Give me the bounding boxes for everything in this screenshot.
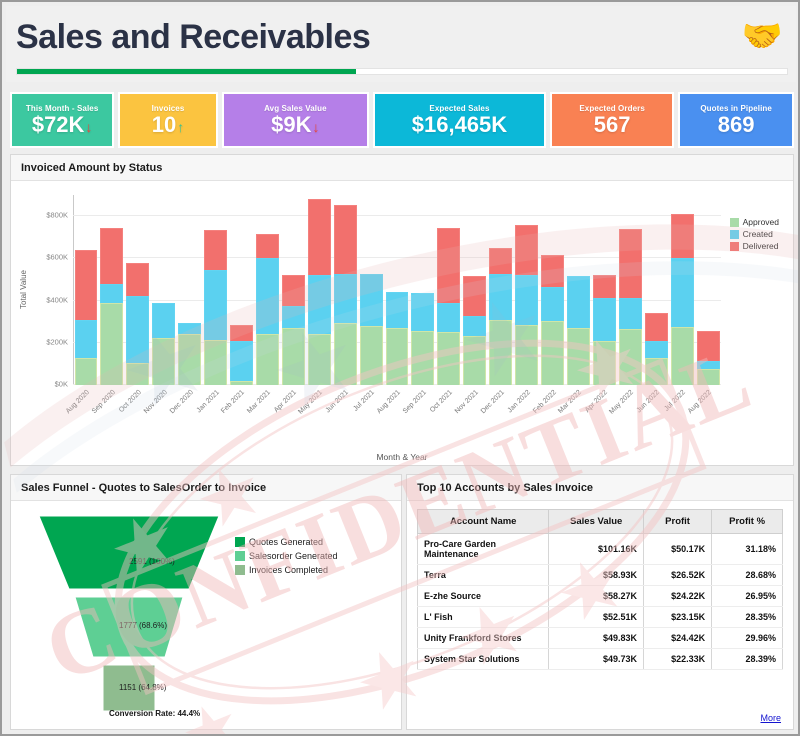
table-cell: $58.27K — [549, 586, 644, 607]
bar-column[interactable]: Jun 2021 — [332, 195, 358, 385]
bar-column[interactable]: Apr 2021 — [280, 195, 306, 385]
table-cell: $49.83K — [549, 628, 644, 649]
trend-down-icon: ↓ — [85, 120, 92, 134]
table-cell: 29.96% — [712, 628, 783, 649]
legend-swatch-icon — [730, 230, 739, 239]
account-name-cell: Terra — [418, 565, 549, 586]
bar-column[interactable]: Sep 2021 — [410, 195, 436, 385]
table-cell: $23.15K — [644, 607, 712, 628]
bar-segment-approved[interactable] — [230, 381, 253, 385]
invoiced-amount-panel: Invoiced Amount by Status Total Value $0… — [10, 154, 794, 466]
x-axis-tick: Oct 2021 — [429, 389, 454, 414]
bar-column[interactable]: Nov 2020 — [151, 195, 177, 385]
bar-segment-delivered[interactable] — [645, 313, 668, 340]
table-header-row: Account NameSales ValueProfitProfit % — [418, 510, 783, 534]
x-axis-tick: Oct 2020 — [118, 389, 143, 414]
sales-funnel-panel: Sales Funnel - Quotes to SalesOrder to I… — [10, 474, 402, 730]
bar-segment-delivered[interactable] — [463, 276, 486, 316]
kpi-card-invoices[interactable]: Invoices10↑ — [118, 92, 217, 148]
trend-down-icon: ↓ — [313, 120, 320, 134]
table-cell: $24.22K — [644, 586, 712, 607]
bar-segment-delivered[interactable] — [515, 225, 538, 276]
bar-segment-approved[interactable] — [463, 336, 486, 385]
kpi-value-wrap: $16,465K — [412, 114, 507, 136]
bar-column[interactable]: May 2022 — [617, 195, 643, 385]
bar-column[interactable]: Jun 2022 — [643, 195, 669, 385]
bar-segment-approved[interactable] — [360, 326, 383, 385]
bar-segment-created[interactable] — [308, 275, 331, 334]
table-cell: $101.16K — [549, 534, 644, 565]
kpi-value: 567 — [594, 114, 631, 136]
table-row[interactable]: Terra$58.93K$26.52K28.68% — [418, 565, 783, 586]
x-axis-tick: Jun 2022 — [636, 389, 661, 414]
bar-chart-legend: ApprovedCreatedDelivered — [730, 217, 779, 253]
funnel-legend-swatch-icon — [235, 565, 245, 575]
kpi-value: 10 — [152, 114, 176, 136]
x-axis-tick: Dec 2020 — [168, 389, 194, 415]
legend-item[interactable]: Created — [730, 229, 779, 239]
bar-segment-delivered[interactable] — [256, 234, 279, 258]
table-cell: 26.95% — [712, 586, 783, 607]
x-axis-tick: Nov 2020 — [143, 389, 169, 415]
bar-segment-created[interactable] — [567, 276, 590, 328]
bar-segment-approved[interactable] — [515, 325, 538, 385]
kpi-value: 869 — [718, 114, 755, 136]
account-name-cell: Unity Frankford Stores — [418, 628, 549, 649]
table-row[interactable]: L' Fish$52.51K$23.15K28.35% — [418, 607, 783, 628]
table-cell: $24.42K — [644, 628, 712, 649]
table-cell: $52.51K — [549, 607, 644, 628]
x-axis-tick: Jan 2022 — [506, 389, 531, 414]
table-row[interactable]: E-zhe Source$58.27K$24.22K26.95% — [418, 586, 783, 607]
bar-segment-approved[interactable] — [411, 331, 434, 385]
bar-segment-created[interactable] — [230, 341, 253, 381]
y-axis-tick: $400K — [46, 295, 68, 304]
bar-segment-created[interactable] — [204, 270, 227, 340]
bar-segment-delivered[interactable] — [619, 229, 642, 299]
table-cell: 28.39% — [712, 649, 783, 670]
table-row[interactable]: System Star Solutions$49.73K$22.33K28.39… — [418, 649, 783, 670]
funnel-legend-swatch-icon — [235, 537, 245, 547]
bar-column[interactable]: Aug 2022 — [695, 195, 721, 385]
top-accounts-panel-header: Top 10 Accounts by Sales Invoice — [407, 475, 793, 501]
bar-segment-approved[interactable] — [152, 338, 175, 386]
bar-segment-approved[interactable] — [386, 328, 409, 385]
x-axis-tick: Apr 2022 — [584, 389, 609, 414]
x-axis-tick: Sep 2020 — [91, 389, 117, 415]
bar-chart-plot-area: $0K$200K$400K$600K$800K Aug 2020Sep 2020… — [73, 195, 721, 385]
bar-segment-approved[interactable] — [567, 328, 590, 385]
bar-segment-delivered[interactable] — [671, 214, 694, 258]
bar-segment-created[interactable] — [645, 341, 668, 358]
bar-column[interactable]: Dec 2020 — [177, 195, 203, 385]
table-column-header[interactable]: Sales Value — [549, 510, 644, 534]
funnel-legend-item[interactable]: Invoices Completed — [235, 565, 338, 575]
kpi-value-wrap: $9K↓ — [271, 114, 319, 136]
trend-up-icon: ↑ — [177, 120, 184, 134]
bar-column[interactable]: Apr 2022 — [591, 195, 617, 385]
bar-segment-created[interactable] — [386, 292, 409, 328]
bar-segment-created[interactable] — [100, 284, 123, 303]
bar-chart-x-axis-title: Month & Year — [11, 452, 793, 462]
table-cell: $50.17K — [644, 534, 712, 565]
bar-column[interactable]: Nov 2021 — [462, 195, 488, 385]
legend-label: Created — [743, 229, 773, 239]
x-axis-tick: Dec 2021 — [480, 389, 506, 415]
x-axis-tick: Aug 2020 — [65, 389, 91, 415]
table-cell: 31.18% — [712, 534, 783, 565]
progress-bar-fill — [17, 69, 356, 74]
kpi-card-expected-sales[interactable]: Expected Sales$16,465K — [373, 92, 546, 148]
invoiced-amount-title: Invoiced Amount by Status — [21, 162, 162, 174]
x-axis-tick: Aug 2021 — [376, 389, 402, 415]
bar-segment-approved[interactable] — [126, 363, 149, 385]
top-accounts-title: Top 10 Accounts by Sales Invoice — [417, 482, 593, 494]
bar-segment-delivered[interactable] — [437, 228, 460, 303]
account-name-cell: Pro-Care Garden Maintenance — [418, 534, 549, 565]
x-axis-tick: Mar 2021 — [246, 389, 272, 415]
funnel-stage-value-1: 2591 (100%) — [129, 557, 175, 566]
kpi-card-quotes-in-pipeline[interactable]: Quotes in Pipeline869 — [678, 92, 794, 148]
bar-segment-approved[interactable] — [671, 327, 694, 385]
funnel-stage-value-2: 1777 (68.6%) — [119, 621, 167, 630]
bar-segment-approved[interactable] — [541, 321, 564, 385]
legend-swatch-icon — [730, 242, 739, 251]
bar-segment-delivered[interactable] — [282, 275, 305, 306]
bar-column[interactable]: May 2021 — [306, 195, 332, 385]
kpi-value-wrap: 567 — [594, 114, 631, 136]
bar-segment-approved[interactable] — [204, 340, 227, 385]
sales-funnel-chart: Quotes GeneratedSalesorder GeneratedInvo… — [11, 501, 401, 729]
bar-segment-approved[interactable] — [100, 303, 123, 385]
legend-item[interactable]: Approved — [730, 217, 779, 227]
legend-label: Approved — [743, 217, 779, 227]
bar-segment-approved[interactable] — [593, 341, 616, 385]
bar-chart-y-axis-title: Total Value — [19, 270, 28, 309]
bar-segment-created[interactable] — [152, 303, 175, 338]
table-cell: $49.73K — [549, 649, 644, 670]
bar-segment-created[interactable] — [489, 274, 512, 319]
bar-column[interactable]: Aug 2020 — [73, 195, 99, 385]
x-axis-tick: Feb 2021 — [221, 389, 247, 415]
x-axis-tick: Aug 2022 — [687, 389, 713, 415]
bar-segment-created[interactable] — [75, 320, 98, 358]
kpi-card-row: This Month - Sales$72K↓Invoices10↑Avg Sa… — [10, 92, 794, 148]
bar-column[interactable]: Feb 2021 — [229, 195, 255, 385]
x-axis-tick: Mar 2022 — [558, 389, 584, 415]
legend-label: Delivered — [743, 241, 779, 251]
bar-segment-approved[interactable] — [489, 320, 512, 385]
bar-segment-created[interactable] — [256, 258, 279, 334]
bar-segment-approved[interactable] — [75, 358, 98, 385]
funnel-legend-item[interactable]: Salesorder Generated — [235, 551, 338, 561]
kpi-card-avg-sales-value[interactable]: Avg Sales Value$9K↓ — [222, 92, 369, 148]
table-cell: $26.52K — [644, 565, 712, 586]
table-row[interactable]: Unity Frankford Stores$49.83K$24.42K29.9… — [418, 628, 783, 649]
y-axis-tick: $600K — [46, 253, 68, 262]
bar-column[interactable]: Oct 2021 — [436, 195, 462, 385]
bar-segment-created[interactable] — [360, 274, 383, 326]
x-axis-tick: Sep 2021 — [402, 389, 428, 415]
bar-segment-approved[interactable] — [178, 334, 201, 385]
bar-column[interactable]: Jul 2022 — [669, 195, 695, 385]
bar-column[interactable]: Jan 2022 — [514, 195, 540, 385]
account-name-cell: E-zhe Source — [418, 586, 549, 607]
bar-segment-created[interactable] — [178, 323, 201, 335]
bar-segment-delivered[interactable] — [126, 263, 149, 297]
x-axis-tick: May 2021 — [298, 389, 325, 416]
bar-segment-delivered[interactable] — [100, 228, 123, 284]
kpi-card-expected-orders[interactable]: Expected Orders567 — [550, 92, 674, 148]
bar-segment-approved[interactable] — [282, 328, 305, 385]
bar-segment-created[interactable] — [593, 298, 616, 340]
legend-item[interactable]: Delivered — [730, 241, 779, 251]
kpi-value-wrap: 10↑ — [152, 114, 184, 136]
bar-segment-delivered[interactable] — [334, 205, 357, 275]
funnel-legend-swatch-icon — [235, 551, 245, 561]
more-link[interactable]: More — [760, 713, 781, 723]
funnel-legend-label: Invoices Completed — [249, 565, 328, 575]
table-column-header[interactable]: Profit % — [712, 510, 783, 534]
bar-segment-delivered[interactable] — [230, 325, 253, 341]
invoiced-amount-chart: Total Value $0K$200K$400K$600K$800K Aug … — [11, 181, 793, 465]
sales-funnel-title: Sales Funnel - Quotes to SalesOrder to I… — [21, 482, 266, 494]
table-cell: 28.68% — [712, 565, 783, 586]
bar-segment-created[interactable] — [282, 306, 305, 328]
kpi-value: $16,465K — [412, 114, 507, 136]
table-column-header[interactable]: Account Name — [418, 510, 549, 534]
table-cell: 28.35% — [712, 607, 783, 628]
x-axis-tick: Jun 2021 — [325, 389, 350, 414]
account-name-cell: System Star Solutions — [418, 649, 549, 670]
y-axis-tick: $200K — [46, 337, 68, 346]
table-body-rows: Pro-Care Garden Maintenance$101.16K$50.1… — [418, 534, 783, 670]
bar-column[interactable]: Jan 2021 — [203, 195, 229, 385]
handshake-icon: 🤝 — [740, 14, 784, 58]
bar-segment-created[interactable] — [671, 258, 694, 327]
bar-segment-created[interactable] — [463, 316, 486, 336]
table-row[interactable]: Pro-Care Garden Maintenance$101.16K$50.1… — [418, 534, 783, 565]
y-axis-tick: $0K — [55, 380, 68, 389]
progress-bar — [16, 68, 788, 75]
bar-column[interactable]: Oct 2020 — [125, 195, 151, 385]
bar-segment-created[interactable] — [697, 361, 720, 369]
bar-segment-approved[interactable] — [308, 334, 331, 385]
bar-column[interactable]: Feb 2022 — [540, 195, 566, 385]
bar-segment-delivered[interactable] — [75, 250, 98, 320]
legend-swatch-icon — [730, 218, 739, 227]
bar-segment-created[interactable] — [411, 293, 434, 331]
bar-column[interactable]: Mar 2021 — [254, 195, 280, 385]
bar-column[interactable]: Dec 2021 — [488, 195, 514, 385]
bar-segment-delivered[interactable] — [593, 275, 616, 298]
kpi-card-this-month-sales[interactable]: This Month - Sales$72K↓ — [10, 92, 114, 148]
bar-segment-created[interactable] — [515, 275, 538, 325]
bar-segment-created[interactable] — [334, 274, 357, 323]
funnel-stage-value-3: 1151 (64.8%) — [119, 683, 166, 692]
bar-column[interactable]: Jul 2021 — [358, 195, 384, 385]
table-column-header[interactable]: Profit — [644, 510, 712, 534]
table-cell: $22.33K — [644, 649, 712, 670]
x-axis-tick: Feb 2022 — [532, 389, 558, 415]
funnel-legend-label: Quotes Generated — [249, 537, 323, 547]
invoiced-amount-panel-header: Invoiced Amount by Status — [11, 155, 793, 181]
bar-segment-created[interactable] — [541, 287, 564, 321]
dashboard-page: Sales and Receivables 🤝 This Month - Sal… — [0, 0, 800, 736]
x-axis-tick: Jan 2021 — [195, 389, 220, 414]
y-axis-tick: $800K — [46, 211, 68, 220]
page-title: Sales and Receivables — [16, 18, 370, 57]
top-accounts-table-wrap: Account NameSales ValueProfitProfit % Pr… — [407, 501, 793, 729]
kpi-value-wrap: 869 — [718, 114, 755, 136]
funnel-legend-label: Salesorder Generated — [249, 551, 338, 561]
x-axis-tick: Apr 2021 — [273, 389, 298, 414]
bar-segment-approved[interactable] — [437, 332, 460, 385]
funnel-legend-item[interactable]: Quotes Generated — [235, 537, 338, 547]
bar-segment-delivered[interactable] — [541, 255, 564, 287]
table-cell: $58.93K — [549, 565, 644, 586]
x-axis-tick: Nov 2021 — [454, 389, 480, 415]
funnel-stage-1[interactable] — [39, 516, 219, 589]
funnel-legend: Quotes GeneratedSalesorder GeneratedInvo… — [235, 537, 338, 579]
x-axis-tick: Jul 2022 — [663, 389, 687, 413]
bar-segment-delivered[interactable] — [204, 230, 227, 270]
bar-column[interactable]: Mar 2022 — [566, 195, 592, 385]
x-axis-tick: Jul 2021 — [352, 389, 376, 413]
bar-segment-approved[interactable] — [334, 323, 357, 385]
bar-column[interactable]: Sep 2020 — [99, 195, 125, 385]
kpi-value: $72K — [32, 114, 85, 136]
top-accounts-panel: Top 10 Accounts by Sales Invoice Account… — [406, 474, 794, 730]
bar-column[interactable]: Aug 2021 — [384, 195, 410, 385]
account-name-cell: L' Fish — [418, 607, 549, 628]
bar-segment-approved[interactable] — [256, 334, 279, 385]
bar-segment-approved[interactable] — [697, 369, 720, 385]
bar-segment-approved[interactable] — [645, 358, 668, 385]
conversion-rate-label: Conversion Rate: 44.4% — [109, 709, 200, 718]
top-accounts-table: Account NameSales ValueProfitProfit % Pr… — [417, 509, 783, 670]
sales-funnel-panel-header: Sales Funnel - Quotes to SalesOrder to I… — [11, 475, 401, 501]
bar-segment-created[interactable] — [126, 296, 149, 363]
kpi-value-wrap: $72K↓ — [32, 114, 93, 136]
dashboard-header: Sales and Receivables 🤝 — [6, 6, 796, 82]
kpi-value: $9K — [271, 114, 311, 136]
bar-segment-delivered[interactable] — [697, 331, 720, 361]
x-axis-tick: May 2022 — [609, 389, 636, 416]
bar-segment-created[interactable] — [619, 298, 642, 329]
bar-segment-delivered[interactable] — [489, 248, 512, 274]
bar-segment-approved[interactable] — [619, 329, 642, 385]
bar-segment-delivered[interactable] — [308, 199, 331, 275]
bar-segment-created[interactable] — [437, 303, 460, 333]
bar-chart-bars: Aug 2020Sep 2020Oct 2020Nov 2020Dec 2020… — [73, 195, 721, 385]
